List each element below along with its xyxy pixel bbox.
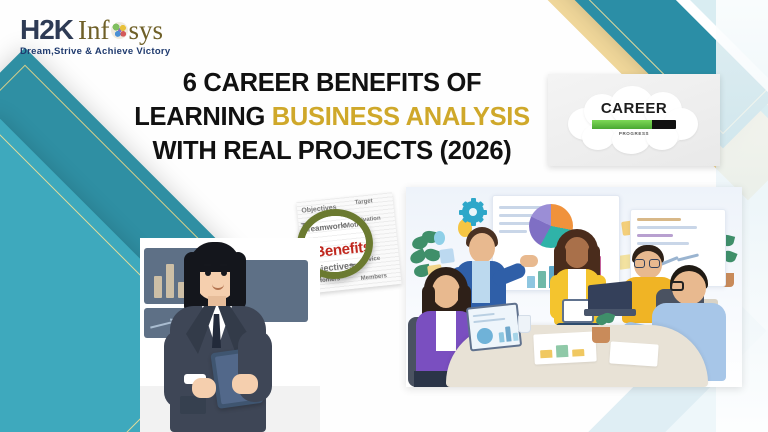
career-progress-card: CAREER PROGRESS [548,74,720,166]
gear-icon [462,201,484,223]
logo-sys-text: sys [129,17,164,44]
paper-document [533,331,596,364]
business-woman-illustration [140,238,320,432]
glasses-icon [634,259,645,268]
logo-h2k-text: H2K [20,16,73,44]
brand-logo[interactable]: H2K Inf sys Dream,Strive & Achieve Victo… [20,16,171,57]
glasses-icon [670,281,684,291]
water-glass [518,315,531,333]
globe-dot-icon [111,22,128,39]
title-line-2: LEARNING BUSINESS ANALYSIS [106,100,558,134]
progress-caption: PROGRESS [566,131,702,136]
title-line-1: 6 CAREER BENEFITS OF [106,66,558,100]
word-cloud-word: Target [355,198,373,206]
career-progress-fill [592,120,652,129]
logo-inf-text: Inf [78,17,109,44]
page-title: 6 CAREER BENEFITS OF LEARNING BUSINESS A… [106,66,558,168]
brand-tagline: Dream,Strive & Achieve Victory [20,46,171,57]
balloon-icon [434,231,445,245]
career-label: CAREER [566,100,702,117]
logo-wordmark: H2K Inf sys [20,16,171,44]
table-tablet [466,302,522,351]
word-cloud-word: Members [361,273,388,282]
title-line-2-plain: LEARNING [134,103,272,131]
title-line-3: WITH REAL PROJECTS (2026) [106,134,558,168]
career-progress-bar [592,120,676,129]
poster-canvas: H2K Inf sys Dream,Strive & Achieve Victo… [0,0,768,432]
title-line-2-highlight: BUSINESS ANALYSIS [272,103,530,131]
paper-document [609,341,658,366]
table-plant-pot [592,327,610,343]
team-meeting-illustration [406,187,742,387]
cloud-shape-icon: CAREER PROGRESS [566,84,702,156]
